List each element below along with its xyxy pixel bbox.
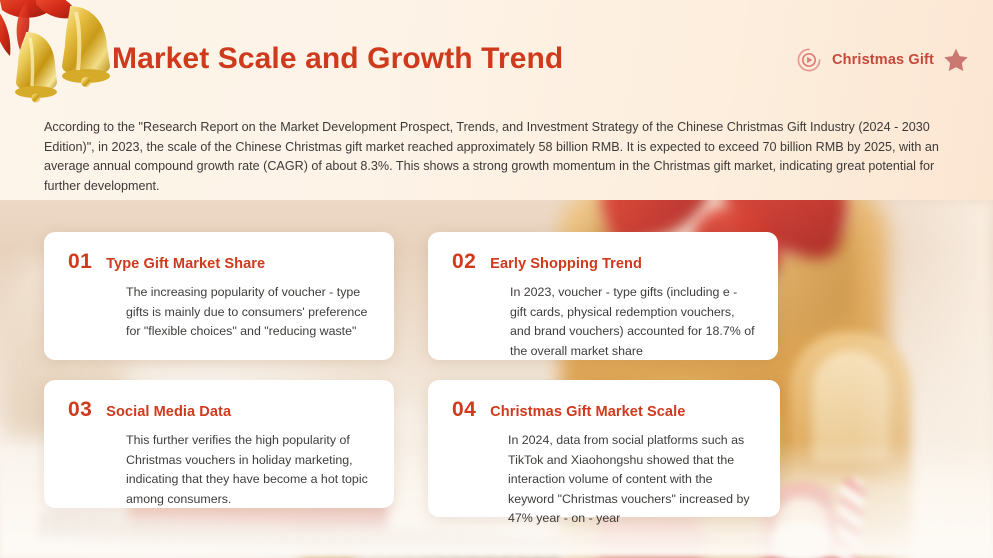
card-number: 03 (68, 398, 92, 422)
card-number: 02 (452, 250, 476, 274)
badge-label: Christmas Gift (832, 52, 934, 68)
info-card-01[interactable]: 01 Type Gift Market Share The increasing… (44, 232, 394, 360)
christmas-bells-icon (0, 0, 124, 114)
card-header: 02 Early Shopping Trend (452, 250, 756, 274)
slide-root: Market Scale and Growth Trend Christmas … (0, 0, 993, 558)
card-header: 04 Christmas Gift Market Scale (452, 398, 758, 422)
card-body-text: In 2023, voucher - type gifts (including… (510, 283, 756, 361)
card-body-text: The increasing popularity of voucher - t… (126, 283, 372, 342)
card-header: 03 Social Media Data (68, 398, 372, 422)
play-circle-icon[interactable] (795, 46, 823, 74)
star-icon (943, 47, 969, 73)
card-body-text: In 2024, data from social platforms such… (508, 431, 758, 529)
card-body-text: This further verifies the high popularit… (126, 431, 372, 509)
card-title: Social Media Data (106, 404, 231, 420)
card-title: Early Shopping Trend (490, 256, 642, 272)
info-card-04[interactable]: 04 Christmas Gift Market Scale In 2024, … (428, 380, 780, 517)
card-header: 01 Type Gift Market Share (68, 250, 372, 274)
card-number: 04 (452, 398, 476, 422)
card-title: Type Gift Market Share (106, 256, 265, 272)
card-number: 01 (68, 250, 92, 274)
info-card-02[interactable]: 02 Early Shopping Trend In 2023, voucher… (428, 232, 778, 360)
info-card-03[interactable]: 03 Social Media Data This further verifi… (44, 380, 394, 508)
page-title: Market Scale and Growth Trend (112, 42, 563, 76)
card-title: Christmas Gift Market Scale (490, 404, 685, 420)
intro-paragraph: According to the "Research Report on the… (44, 118, 950, 196)
christmas-gift-badge[interactable]: Christmas Gift (795, 46, 969, 74)
